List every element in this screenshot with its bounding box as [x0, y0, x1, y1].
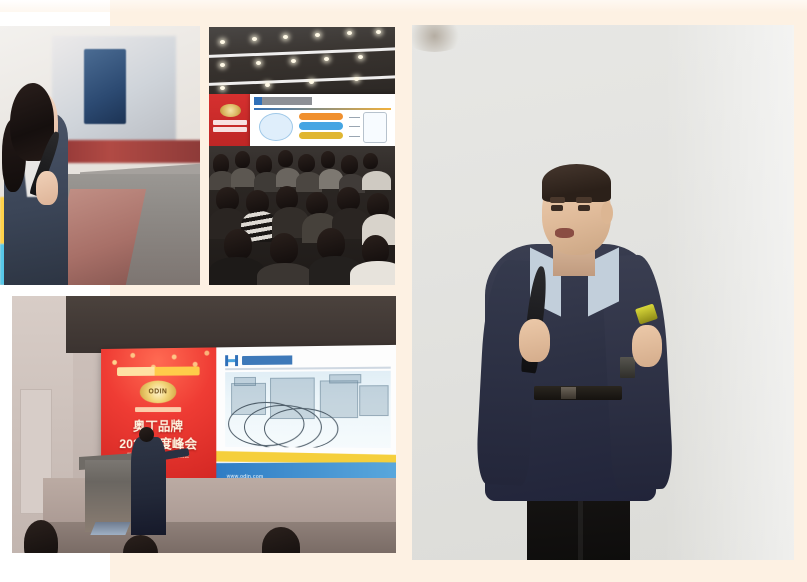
speaker-hair	[542, 164, 611, 201]
speaker-eye-left	[551, 205, 563, 211]
upper-dark-band	[66, 296, 396, 353]
side-banner	[209, 94, 252, 153]
company-logo-icon	[225, 355, 238, 366]
host-hand	[36, 171, 58, 205]
photo-speaker-portrait-inner	[412, 25, 794, 560]
photo-collage: 一路同行 共未来 ODIN 中国品牌名牌 奥丁品牌 2024年度峰会 暨中小微企…	[0, 0, 807, 582]
speaker-ear	[601, 202, 612, 224]
photo-stage-presentation-inner: 一路同行 共未来 ODIN 中国品牌名牌 奥丁品牌 2024年度峰会 暨中小微企…	[12, 296, 396, 553]
background-monitor	[84, 49, 126, 124]
slide-tagline: 一路同行 共未来	[117, 367, 200, 377]
slide-company-logo	[225, 353, 326, 368]
slide-side-column	[363, 112, 387, 144]
speaker-left-hand	[519, 319, 550, 362]
laptop	[90, 522, 130, 535]
audience	[209, 146, 395, 285]
slide-box-blue	[299, 122, 343, 129]
photo-audience-screen-inner	[209, 27, 395, 285]
photo-woman-lectern-inner	[0, 26, 200, 285]
speaker-mouth	[555, 228, 574, 238]
speaker-brow-right	[576, 197, 591, 202]
background-wash-top	[0, 0, 807, 12]
slide-rule	[225, 367, 390, 370]
slide-logo	[254, 97, 312, 105]
speaker-brow-left	[550, 197, 565, 202]
red-backdrop-band	[48, 140, 200, 163]
wall-highlight	[664, 25, 794, 560]
slide-odin-logo: ODIN	[140, 381, 177, 403]
banner-logo-icon	[220, 104, 241, 117]
presentation-screen	[250, 94, 395, 151]
ceiling	[209, 27, 395, 97]
slide-box-yellow	[299, 132, 343, 139]
banner-title-line-2	[213, 127, 247, 132]
speaker-right-hand	[632, 325, 663, 368]
slide-logo-subtitle: 中国品牌名牌	[135, 408, 181, 413]
slide-white-panel: www.odin.com	[217, 345, 396, 483]
photo-woman-lectern[interactable]	[0, 26, 200, 285]
slide-equipment-photo	[225, 372, 390, 449]
slide-sparkle-decor	[102, 348, 217, 383]
speaker-belt	[534, 386, 622, 400]
photo-stage-presentation[interactable]: 一路同行 共未来 ODIN 中国品牌名牌 奥丁品牌 2024年度峰会 暨中小微企…	[12, 296, 396, 553]
speaker-belt-buckle	[561, 387, 576, 400]
slide-box-orange	[299, 113, 343, 120]
banner-title-line-1	[213, 120, 247, 125]
pocket-item	[620, 357, 635, 378]
presenter-body	[131, 437, 166, 535]
photo-speaker-portrait[interactable]	[412, 25, 794, 560]
slide-divider	[254, 108, 390, 110]
slide-yellow-band	[217, 451, 396, 463]
speaker-eye-right	[578, 205, 590, 211]
photo-audience-screen[interactable]	[209, 27, 395, 285]
slide-center-oval	[259, 113, 293, 141]
company-logo-wordmark	[242, 355, 327, 365]
